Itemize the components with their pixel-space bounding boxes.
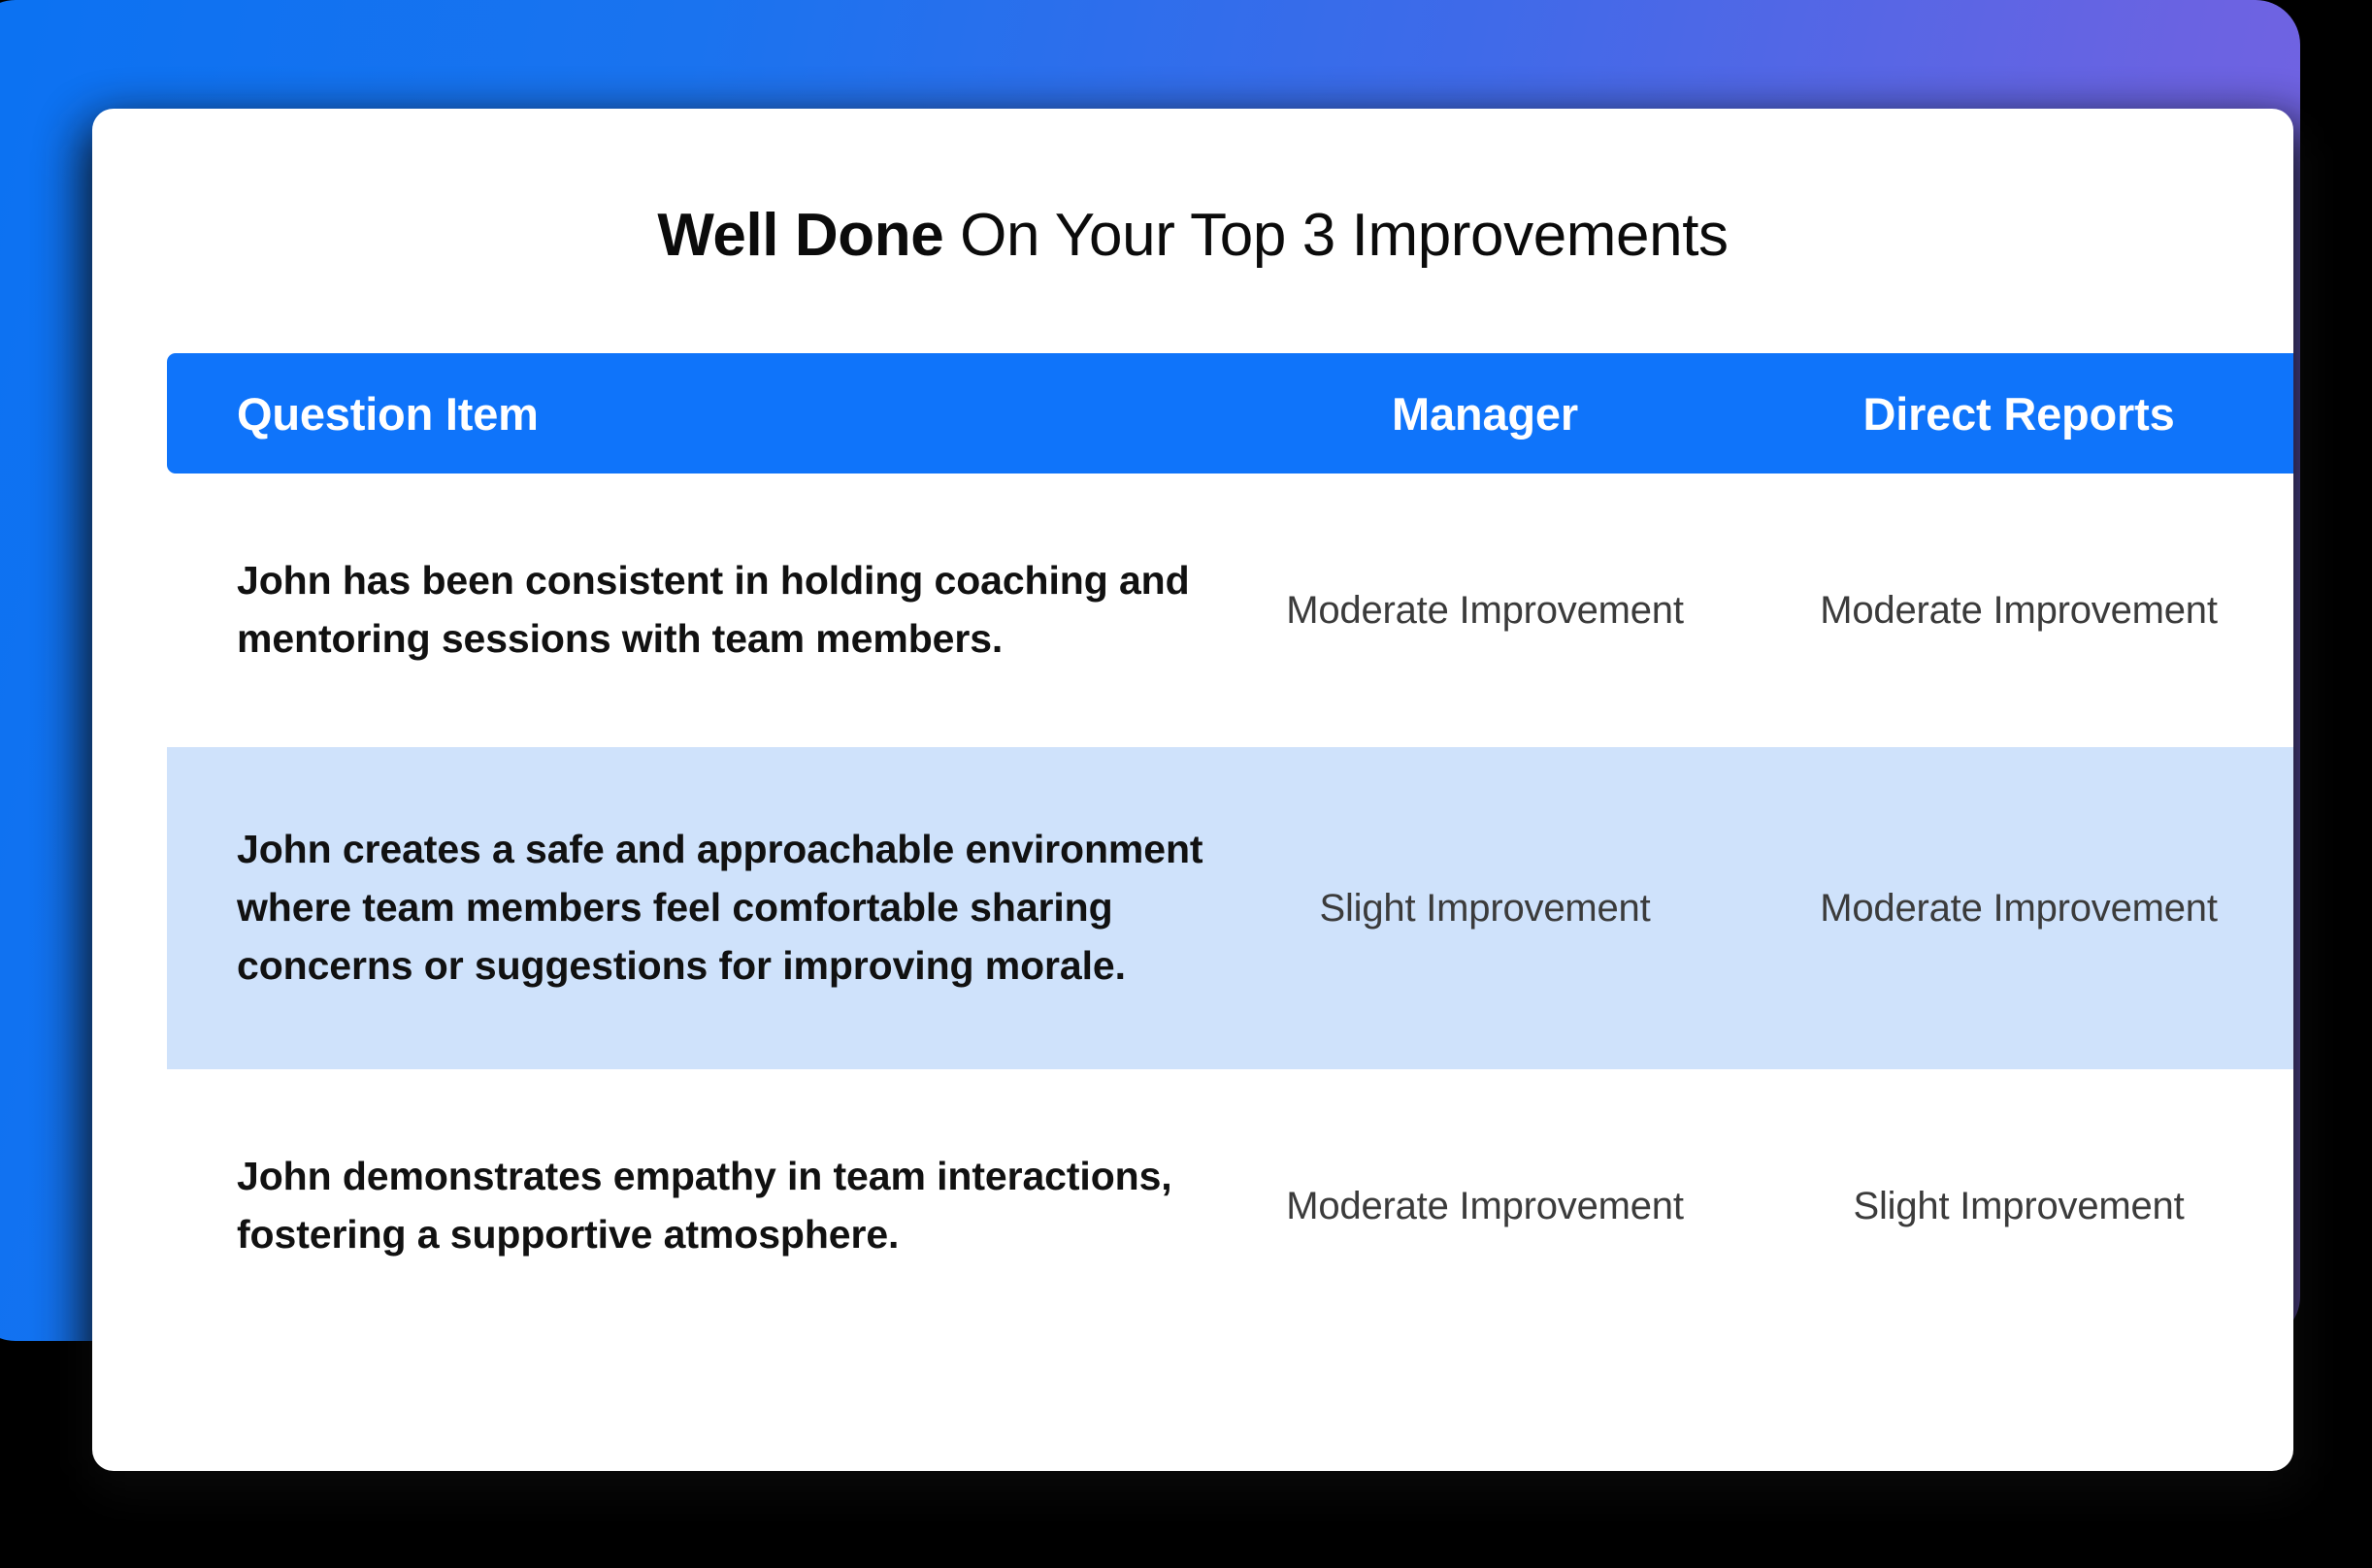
cell-question-item: John has been consistent in holding coac… [167,552,1223,669]
cell-manager-rating: Moderate Improvement [1223,1185,1747,1228]
page-title-emphasis: Well Done [657,202,943,269]
screenshot-stage: Well Done On Your Top 3 Improvements Que… [0,0,2372,1568]
table-row: John has been consistent in holding coac… [167,474,2293,747]
cell-question-item: John creates a safe and approachable env… [167,821,1223,996]
table-row: John demonstrates empathy in team intera… [167,1069,2293,1343]
improvements-card: Well Done On Your Top 3 Improvements Que… [92,109,2293,1471]
cell-direct-reports-rating: Slight Improvement [1747,1185,2290,1228]
table-header-row: Question Item Manager Direct Reports [167,353,2293,474]
column-header-question-item: Question Item [167,387,1223,441]
column-header-direct-reports: Direct Reports [1747,387,2290,441]
cell-direct-reports-rating: Moderate Improvement [1747,589,2290,633]
page-title-rest: On Your Top 3 Improvements [943,202,1728,269]
cell-manager-rating: Moderate Improvement [1223,589,1747,633]
cell-manager-rating: Slight Improvement [1223,887,1747,931]
column-header-manager: Manager [1223,387,1747,441]
improvements-table: Question Item Manager Direct Reports Joh… [167,353,2293,1343]
page-title: Well Done On Your Top 3 Improvements [92,204,2293,267]
cell-question-item: John demonstrates empathy in team intera… [167,1148,1223,1264]
table-row: John creates a safe and approachable env… [167,747,2293,1069]
cell-direct-reports-rating: Moderate Improvement [1747,887,2290,931]
